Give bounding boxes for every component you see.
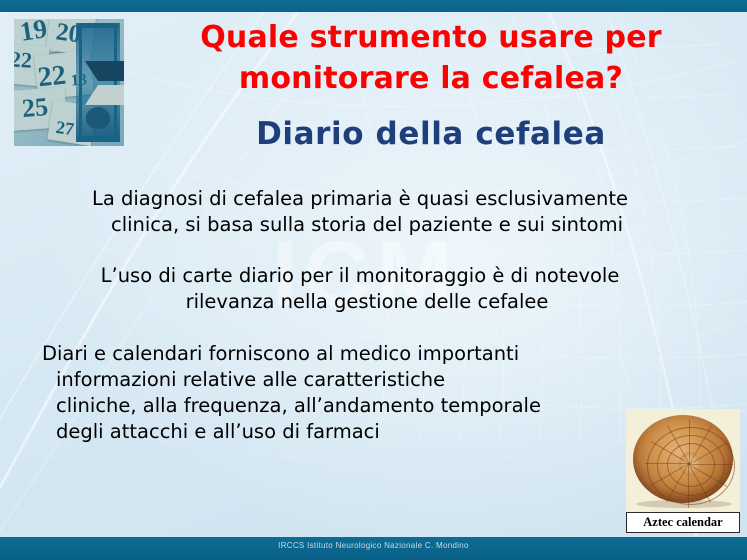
hourglass-calendar-photo: 19 20 22 22 13 25 27 — [14, 19, 124, 146]
top-accent-bar — [0, 0, 747, 12]
title-line-2: monitorare la cefalea? — [138, 59, 724, 100]
body-content: La diagnosi di cefalea primaria è quasi … — [24, 186, 696, 470]
paragraph-line: rilevanza nella gestione delle cefalee — [24, 289, 696, 315]
paragraph-line: L’uso di carte diario per il monitoraggi… — [24, 263, 696, 289]
paragraph-line: clinica, si basa sulla storia del pazien… — [24, 212, 696, 238]
aztec-stone-disc — [633, 415, 733, 503]
footer-institution-text: IRCCS Istituto Neurologico Nazionale C. … — [0, 541, 747, 550]
paragraph-carte-diario: L’uso di carte diario per il monitoraggi… — [24, 263, 696, 315]
aztec-calendar-caption: Aztec calendar — [626, 512, 740, 533]
aztec-calendar-photo — [626, 409, 740, 512]
page-title: Quale strumento usare per monitorare la … — [138, 18, 724, 100]
slide: ICM 19 20 22 22 13 25 27 Quale strumento… — [0, 0, 747, 560]
title-line-1: Quale strumento usare per — [138, 18, 724, 59]
paragraph-line: cliniche, alla frequenza, all’andamento … — [42, 393, 696, 419]
paragraph-line: informazioni relative alle caratteristic… — [42, 367, 696, 393]
paragraph-line: Diari e calendari forniscono al medico i… — [42, 341, 696, 367]
page-subtitle: Diario della cefalea — [138, 116, 724, 153]
paragraph-line: degli attacchi e all’uso di farmaci — [42, 419, 696, 445]
paragraph-line: La diagnosi di cefalea primaria è quasi … — [24, 186, 696, 212]
paragraph-diari-calendari: Diari e calendari forniscono al medico i… — [24, 341, 696, 446]
bottom-accent-bar: IRCCS Istituto Neurologico Nazionale C. … — [0, 537, 747, 560]
paragraph-diagnosi: La diagnosi di cefalea primaria è quasi … — [24, 186, 696, 238]
